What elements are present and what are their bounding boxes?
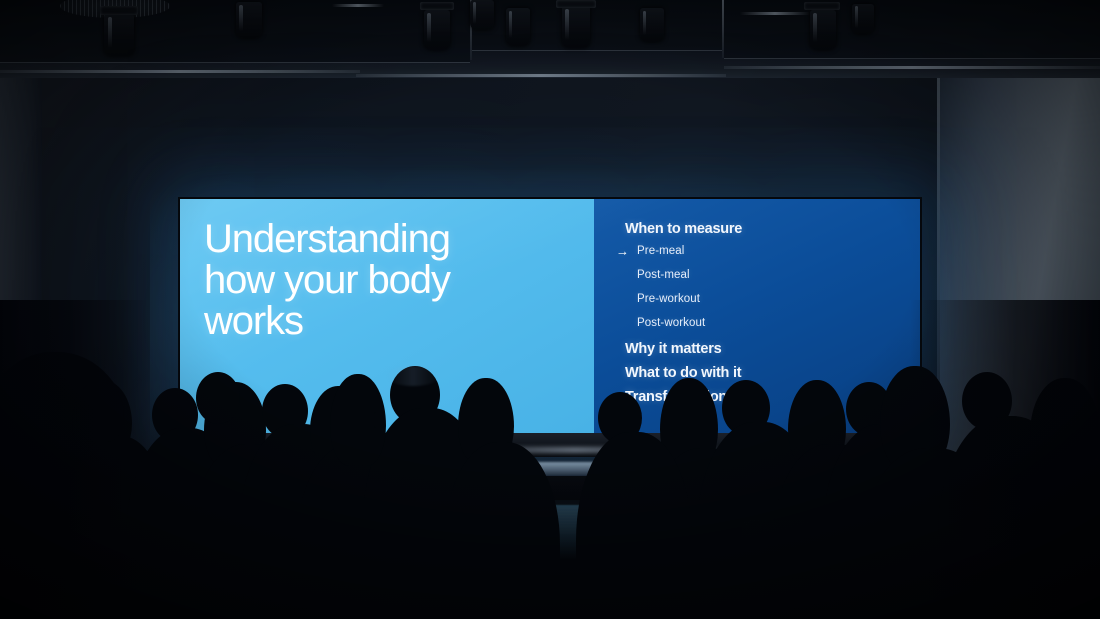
ceiling-highlight <box>740 12 810 15</box>
stage-spotlight <box>810 10 836 50</box>
agenda-item-pre-workout[interactable]: Pre-workout <box>637 293 914 305</box>
ceiling-rail-center <box>356 74 726 77</box>
slide-headline: Understanding how your body works <box>204 219 584 341</box>
audience-chair <box>742 520 812 619</box>
ceiling-highlight <box>332 4 384 7</box>
audience-rim-light <box>386 366 440 386</box>
ceiling-bay-right <box>724 0 1100 59</box>
audience-silhouette <box>444 442 560 619</box>
agenda-label: Pre-meal <box>637 245 684 257</box>
ceiling-rail-left <box>0 70 360 73</box>
stage-spotlight <box>104 14 134 56</box>
ceiling-rail-right <box>724 66 1100 69</box>
audience-silhouette <box>196 372 240 424</box>
spotlight-yoke <box>100 6 138 15</box>
stage-spotlight <box>236 2 262 38</box>
headline-line-3: works <box>204 301 584 342</box>
spotlight-yoke <box>804 2 840 10</box>
audience-chair <box>236 528 302 619</box>
audience-silhouette <box>576 432 692 619</box>
agenda-item-what-to-do-with-it[interactable]: What to do with it <box>625 365 914 381</box>
stage-spotlight <box>506 8 530 46</box>
spotlight-yoke <box>420 2 454 10</box>
agenda-item-pre-meal[interactable]: → Pre-meal <box>637 245 914 257</box>
agenda-item-post-meal[interactable]: Post-meal <box>637 269 914 281</box>
stage-spotlight <box>562 6 590 48</box>
active-arrow-icon: → <box>616 245 629 258</box>
agenda-item-when-to-measure[interactable]: When to measure <box>625 221 914 237</box>
stage-spotlight <box>470 0 494 30</box>
agenda-label: Why it matters <box>625 341 721 357</box>
headline-line-1: Understanding <box>204 219 584 260</box>
ceiling-seam-b <box>722 0 724 58</box>
agenda-label: Pre-workout <box>637 293 700 305</box>
spotlight-yoke <box>556 0 596 8</box>
agenda-item-why-it-matters[interactable]: Why it matters <box>625 341 914 357</box>
agenda-label: Post-workout <box>637 317 705 329</box>
headline-line-2: how your body <box>204 260 584 301</box>
stage-spotlight <box>852 4 874 34</box>
agenda-label: Post-meal <box>637 269 690 281</box>
audience-silhouette <box>76 382 124 442</box>
presentation-hall-scene: Understanding how your body works <box>0 0 1100 619</box>
stage-spotlight <box>640 8 664 42</box>
agenda-item-post-workout[interactable]: Post-workout <box>637 317 914 329</box>
agenda-label: When to measure <box>625 221 742 237</box>
handheld-device <box>374 412 384 428</box>
stage-spotlight <box>424 10 450 50</box>
